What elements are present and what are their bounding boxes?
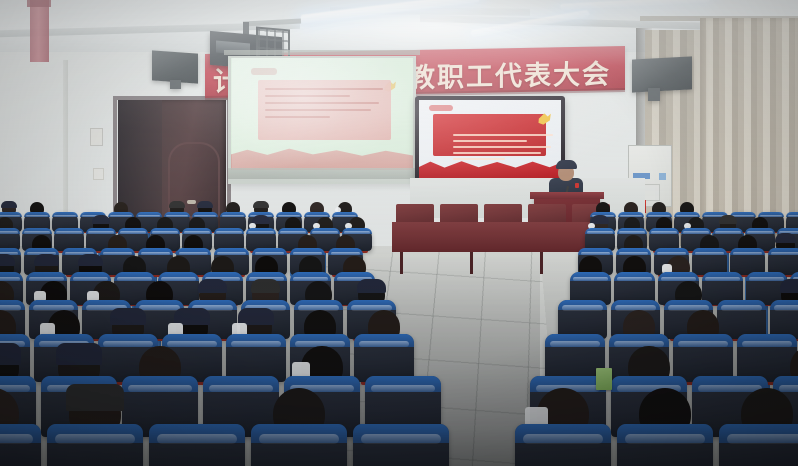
screen-glare [231, 58, 413, 170]
audience-member-cap [197, 201, 213, 208]
projection-screen [231, 58, 413, 170]
audience-member-cap [169, 201, 185, 208]
presenter-lapel-pin [575, 183, 579, 188]
screen-mount-rod [224, 50, 420, 55]
seat-rim-highlight [55, 434, 136, 444]
conference-hall-photo: 计 次教职工代表大会 [0, 0, 798, 466]
audience-member-cap [56, 343, 102, 365]
front-row-chair [528, 204, 566, 224]
audience-member-cap [719, 215, 737, 223]
chair-leg [400, 252, 403, 274]
seat-rim-highlight [361, 434, 442, 444]
wall-speaker-right-mount [648, 88, 660, 101]
cabinet-sticker [659, 173, 666, 180]
slide-badge [429, 105, 453, 111]
seat-rim-highlight [231, 341, 281, 347]
presenter-cap [556, 160, 577, 169]
seat-rim-highlight [550, 341, 600, 347]
chair-leg [470, 252, 473, 274]
seat-rim-highlight [573, 277, 607, 281]
audience-member-cap [780, 279, 798, 293]
seat-rim-highlight [562, 305, 603, 310]
front-row-chair [440, 204, 478, 224]
screen-bottom-bar [228, 168, 416, 179]
seat-rim-highlight [54, 215, 76, 218]
audience-member-cap [34, 254, 59, 266]
wall-speaker-left [152, 50, 198, 83]
auditorium-seat[interactable] [149, 424, 245, 466]
audience-member-cap [66, 384, 124, 411]
seat-rim-highlight [259, 434, 340, 444]
auditorium-seat[interactable] [251, 424, 347, 466]
seat-rim-highlight [0, 434, 33, 444]
audience-member-cap [198, 279, 228, 293]
seat-rim-highlight [248, 231, 273, 234]
audience-member-cap [1, 201, 17, 208]
front-row-chair [396, 204, 434, 224]
audience-member-cap [110, 308, 146, 325]
audience-member-cap [92, 215, 110, 223]
audience-member-cap [253, 201, 269, 208]
seat-rim-highlight [359, 341, 409, 347]
wall-column [30, 0, 49, 62]
slide-content-box [433, 114, 546, 156]
auditorium-seat[interactable] [719, 424, 798, 466]
front-bench [392, 222, 592, 252]
seat-rim-highlight [733, 252, 762, 256]
auditorium-seat[interactable] [353, 424, 449, 466]
seat-rim-highlight [587, 231, 612, 234]
wall-column-cap [27, 0, 51, 7]
light-switch[interactable] [90, 128, 103, 146]
seat-rim-highlight [788, 215, 798, 218]
seat-rim-highlight [651, 231, 676, 234]
wall-speaker-right [632, 56, 692, 92]
auditorium-seat[interactable] [617, 424, 713, 466]
seat-rim-highlight [56, 231, 81, 234]
auditorium-seat[interactable] [47, 424, 143, 466]
seat-rim-highlight [523, 434, 604, 444]
audience-member-cap [78, 254, 103, 266]
podium-top [530, 192, 604, 199]
auditorium-seat[interactable] [0, 424, 41, 466]
green-booklet [596, 368, 612, 390]
seat-rim-highlight [157, 434, 238, 444]
front-row-chair [484, 204, 522, 224]
chair-leg [540, 252, 543, 274]
tv-screen [419, 100, 561, 178]
audience-member-cap [0, 254, 15, 266]
seat-rim-highlight [216, 231, 241, 234]
seat-rim-highlight [695, 252, 724, 256]
wall-speaker-left-mount [170, 80, 181, 89]
seat-rim-highlight [774, 305, 798, 310]
seat-rim-highlight [625, 434, 706, 444]
audience-member-cap [251, 279, 281, 293]
seat-rim-highlight [222, 215, 244, 218]
seat-rim-highlight [0, 231, 18, 234]
auditorium-seat[interactable] [515, 424, 611, 466]
seat-rim-highlight [727, 434, 798, 444]
seat-rim-highlight [617, 277, 651, 281]
audience-member-cap [0, 343, 21, 365]
audience-member-cap [357, 279, 387, 293]
wall-pipe [63, 60, 68, 230]
seat-rim-highlight [26, 215, 48, 218]
audience-member-cap [775, 233, 796, 243]
wall-outlet [93, 168, 104, 180]
slide-text-lines [453, 134, 553, 164]
seat-rim-highlight [371, 385, 435, 393]
